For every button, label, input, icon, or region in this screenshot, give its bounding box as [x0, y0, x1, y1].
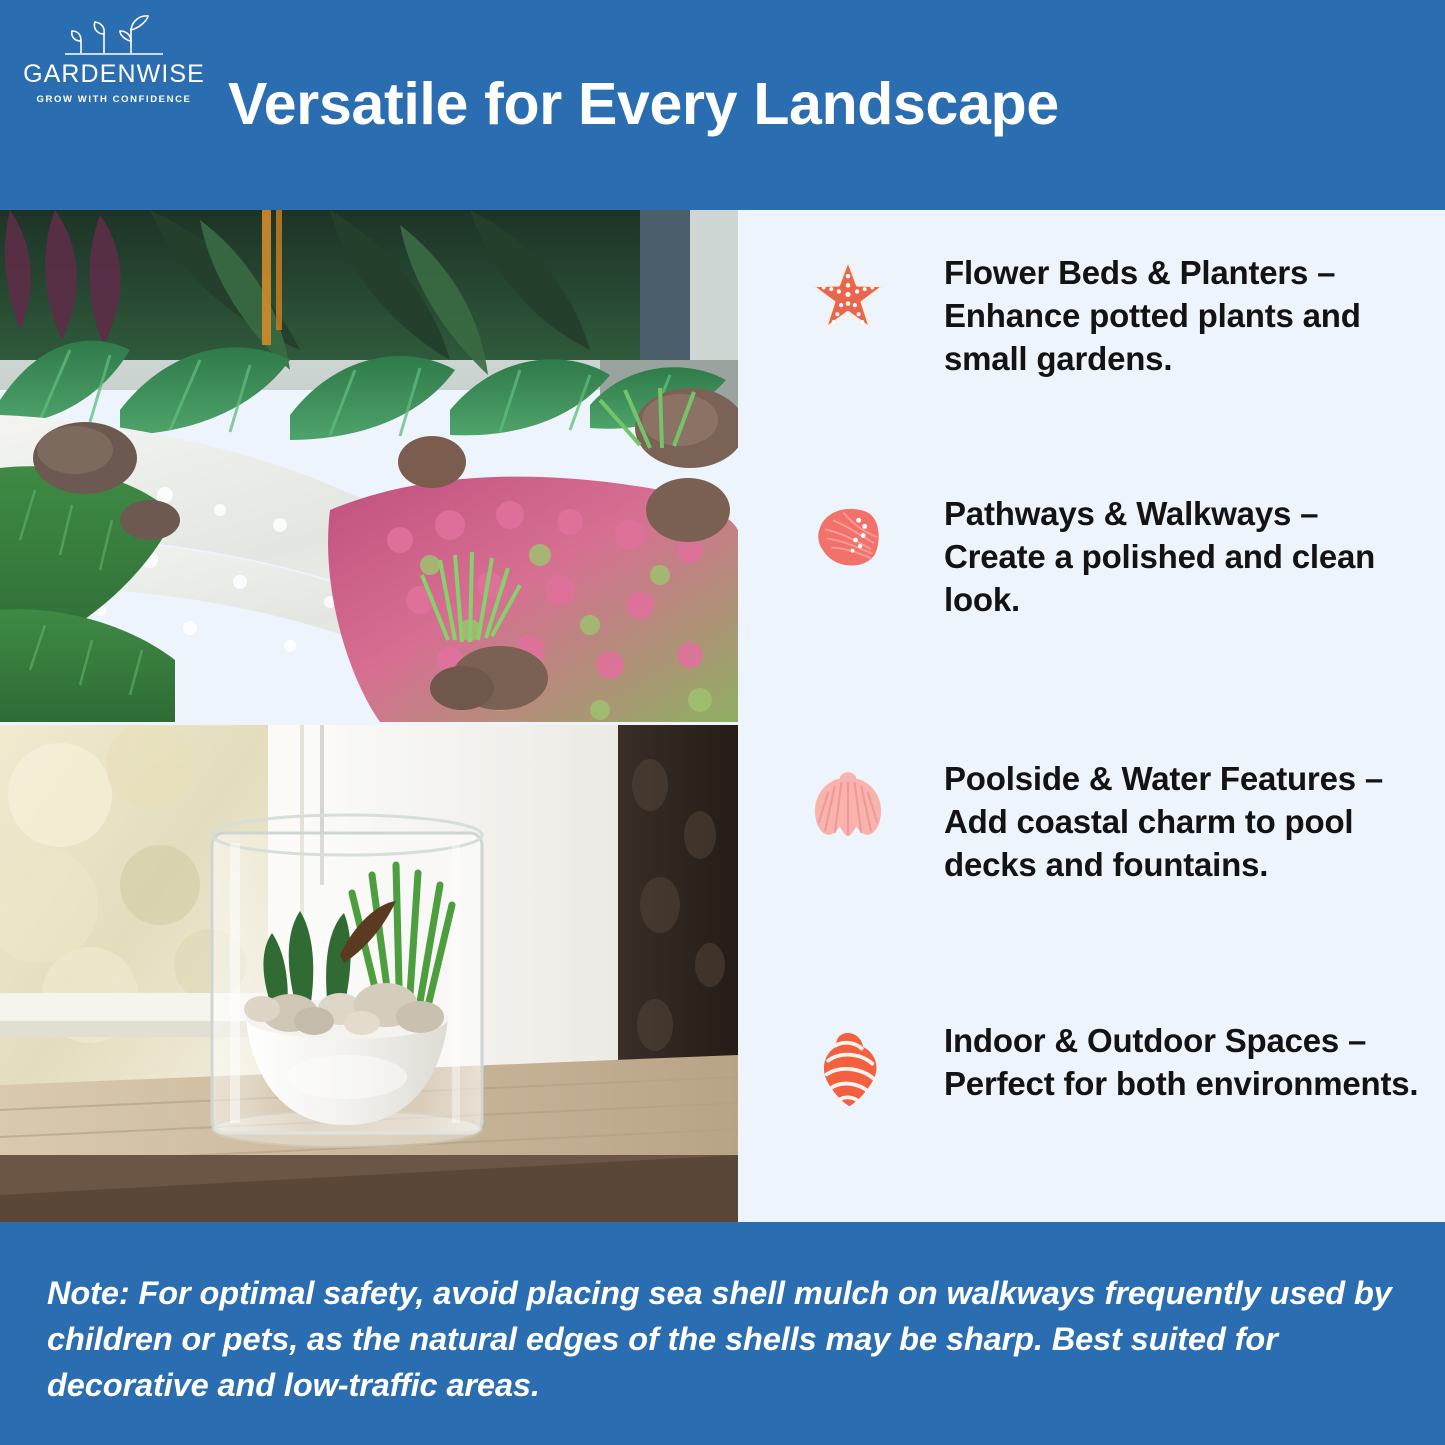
- garden-bed-photo: [0, 210, 738, 722]
- feature-label: Flower Beds & Planters – Enhance potted …: [944, 252, 1445, 381]
- feature-label: Indoor & Outdoor Spaces – Perfect for bo…: [944, 1020, 1445, 1106]
- main-content: Flower Beds & Planters – Enhance potted …: [0, 210, 1445, 1222]
- brand-name: GARDENWISE: [14, 62, 214, 87]
- page-title: Versatile for Every Landscape: [228, 0, 1428, 210]
- infographic-root: GARDENWISE GROW WITH CONFIDENCE Versatil…: [0, 0, 1445, 1445]
- feature-label: Poolside & Water Features – Add coastal …: [944, 758, 1445, 887]
- header-banner: GARDENWISE GROW WITH CONFIDENCE Versatil…: [0, 0, 1445, 210]
- feature-item: Indoor & Outdoor Spaces – Perfect for bo…: [738, 1020, 1445, 1112]
- indoor-terrarium-photo: [0, 725, 738, 1222]
- footer-banner: Note: For optimal safety, avoid placing …: [0, 1222, 1445, 1445]
- scallop-shell-icon: [800, 758, 896, 846]
- feature-label: Pathways & Walkways – Create a polished …: [944, 493, 1445, 622]
- starfish-icon: [800, 252, 896, 334]
- three-leaf-sprout-icon: [59, 14, 169, 60]
- safety-note: Note: For optimal safety, avoid placing …: [47, 1270, 1402, 1408]
- brand-logo: GARDENWISE GROW WITH CONFIDENCE: [14, 14, 214, 105]
- brand-tagline: GROW WITH CONFIDENCE: [14, 94, 214, 105]
- conch-shell-icon: [800, 1020, 896, 1112]
- feature-item: Poolside & Water Features – Add coastal …: [738, 758, 1445, 887]
- feature-list: Flower Beds & Planters – Enhance potted …: [738, 210, 1445, 1222]
- photo-column: [0, 210, 738, 1222]
- feature-item: Flower Beds & Planters – Enhance potted …: [738, 252, 1445, 381]
- feature-item: Pathways & Walkways – Create a polished …: [738, 493, 1445, 622]
- fan-shell-icon: [800, 493, 896, 575]
